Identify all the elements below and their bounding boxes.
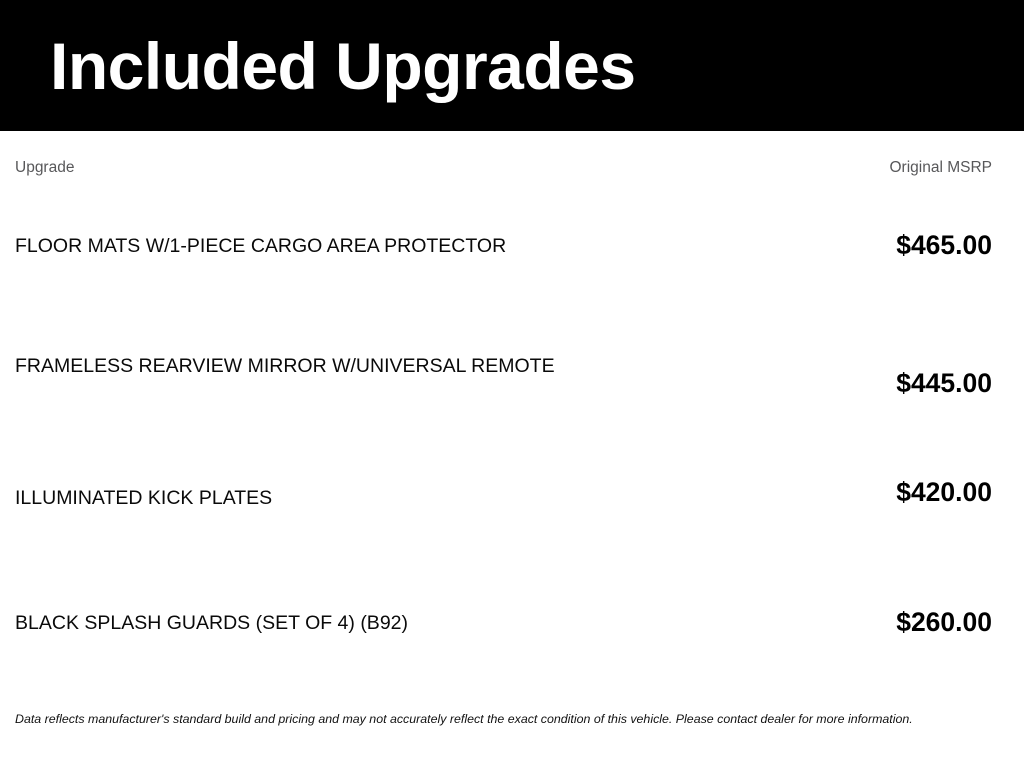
table-row: FLOOR MATS W/1-PIECE CARGO AREA PROTECTO… [0, 189, 1024, 314]
page-banner: Included Upgrades [0, 0, 1024, 131]
upgrade-name: BLACK SPLASH GUARDS (SET OF 4) (B92) [15, 612, 715, 635]
upgrade-price: $260.00 [896, 607, 992, 637]
upgrade-price: $465.00 [896, 230, 992, 260]
upgrade-price: $420.00 [896, 477, 992, 507]
table-header-row: Upgrade Original MSRP [0, 131, 1024, 189]
table-row: FRAMELESS REARVIEW MIRROR W/UNIVERSAL RE… [0, 314, 1024, 439]
table-row-inner: ILLUMINATED KICK PLATES $420.00 [15, 439, 992, 564]
table-row-inner: FLOOR MATS W/1-PIECE CARGO AREA PROTECTO… [15, 189, 992, 314]
column-header-upgrade: Upgrade [15, 159, 74, 177]
table-row-inner: BLACK SPLASH GUARDS (SET OF 4) (B92) $26… [15, 564, 992, 689]
upgrade-name: FRAMELESS REARVIEW MIRROR W/UNIVERSAL RE… [15, 355, 715, 378]
column-header-original-msrp: Original MSRP [890, 159, 993, 177]
table-row: ILLUMINATED KICK PLATES $420.00 [0, 439, 1024, 564]
table-row: BLACK SPLASH GUARDS (SET OF 4) (B92) $26… [0, 564, 1024, 689]
upgrade-name: FLOOR MATS W/1-PIECE CARGO AREA PROTECTO… [15, 235, 715, 258]
disclaimer-text: Data reflects manufacturer's standard bu… [15, 711, 1009, 727]
upgrade-price: $445.00 [896, 368, 992, 398]
table-row-inner: FRAMELESS REARVIEW MIRROR W/UNIVERSAL RE… [15, 314, 992, 439]
page-title: Included Upgrades [50, 26, 636, 106]
table-body: FLOOR MATS W/1-PIECE CARGO AREA PROTECTO… [0, 189, 1024, 689]
upgrades-table: Upgrade Original MSRP FLOOR MATS W/1-PIE… [0, 131, 1024, 689]
upgrade-name: ILLUMINATED KICK PLATES [15, 487, 715, 510]
included-upgrades-page: Included Upgrades Upgrade Original MSRP … [0, 0, 1024, 768]
